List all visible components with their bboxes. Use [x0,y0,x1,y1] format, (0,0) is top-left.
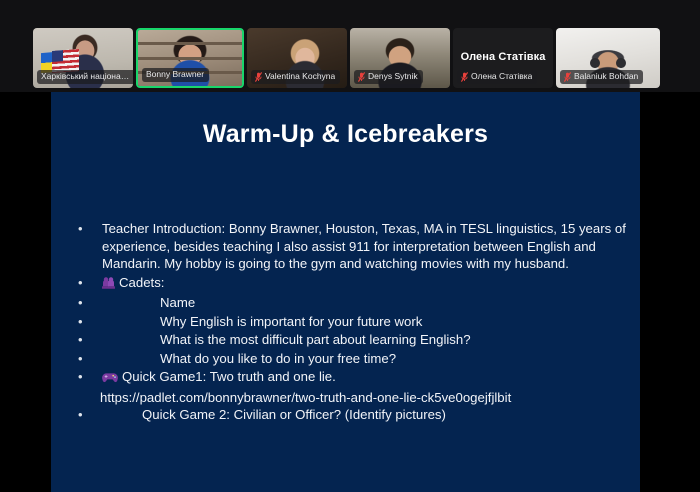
participant-name-label: Valentina Kochyna [265,71,335,82]
busts-in-silhouette-icon [102,276,115,294]
slide-bullet-item: •What is the most difficult part about l… [76,331,626,349]
bullet-marker-icon: • [76,313,102,331]
slide-bullet-text: Name [102,294,626,312]
slide-bullet-item: •Name [76,294,626,312]
slide-bullet-item: •Quick Game1: Two truth and one lie. [76,368,626,388]
bullet-marker-icon: • [76,220,102,238]
participant-tile[interactable]: Denys Sytnik [350,28,450,88]
slide-bullet-item: • What do you like to do in your free ti… [76,350,626,368]
participant-name-label: Balaniuk Bohdan [574,71,638,82]
participant-name-badge: Valentina Kochyna [251,70,340,84]
slide-bullet-text: Quick Game1: Two truth and one lie. [102,368,626,388]
participant-name-badge: Олена Статівка [457,70,537,84]
slide-url-text[interactable]: https://padlet.com/bonnybrawner/two-trut… [76,389,626,407]
video-participant-strip: Харківський національни..Bonny BrawnerVa… [0,0,700,92]
participant-name-label: Denys Sytnik [368,71,418,82]
page-title: Warm-Up & Icebreakers [51,120,640,149]
slide-bullet-text: Why English is important for your future… [102,313,626,331]
participant-tile[interactable]: Balaniuk Bohdan [556,28,660,88]
slide-bullet-item: • Teacher Introduction: Bonny Brawner, H… [76,220,626,273]
slide-bullet-text: Teacher Introduction: Bonny Brawner, Hou… [102,220,626,273]
slide-bullet-text: Quick Game 2: Civilian or Officer? (Iden… [102,406,626,424]
participant-name-label: Олена Статівка [471,71,532,82]
participant-tile[interactable]: Олена СтатівкаОлена Статівка [453,28,553,88]
bullet-marker-icon: • [76,406,102,424]
participant-display-name: Олена Статівка [453,51,553,63]
participant-name-label: Харківський національни.. [41,71,133,82]
participant-tile[interactable]: Valentina Kochyna [247,28,347,88]
participant-name-badge: Balaniuk Bohdan [560,70,643,84]
video-game-controller-icon [102,370,118,388]
participant-name-badge: Denys Sytnik [354,70,423,84]
bullet-marker-icon: • [76,350,102,368]
slide-bullet-item: •Cadets: [76,274,626,294]
shared-screen-slide: Warm-Up & Icebreakers • Teacher Introduc… [51,92,640,492]
bullet-marker-icon: • [76,368,102,386]
participant-tile[interactable]: Харківський національни.. [33,28,133,88]
slide-bullet-list: • Teacher Introduction: Bonny Brawner, H… [76,220,626,425]
slide-bullet-item: •Quick Game 2: Civilian or Officer? (Ide… [76,406,626,424]
mic-muted-icon [564,72,571,82]
slide-bullet-text: What do you like to do in your free time… [102,350,626,368]
slide-bullet-text: What is the most difficult part about le… [102,331,626,349]
bullet-marker-icon: • [76,294,102,312]
slide-bullet-item: •Why English is important for your futur… [76,313,626,331]
participant-tile[interactable]: Bonny Brawner [136,28,244,88]
participant-name-badge: Bonny Brawner [142,68,209,82]
slide-bullet-text: Cadets: [102,274,626,294]
mic-muted-icon [358,72,365,82]
mic-muted-icon [461,72,468,82]
bullet-marker-icon: • [76,274,102,292]
participant-name-badge: Харківський національни.. [37,70,133,84]
mic-muted-icon [255,72,262,82]
participant-name-label: Bonny Brawner [146,69,204,80]
bullet-marker-icon: • [76,331,102,349]
